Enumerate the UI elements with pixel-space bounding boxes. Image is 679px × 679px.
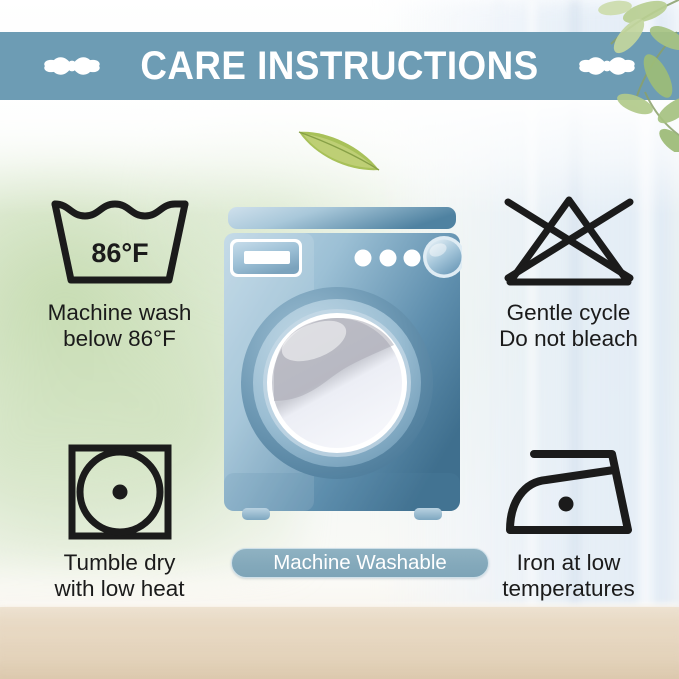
floating-leaf-icon (293, 118, 385, 180)
care-caption: Machine wash below 86°F (12, 300, 227, 352)
iron-icon (494, 442, 644, 542)
machine-lid (228, 207, 456, 229)
care-caption: Iron at low temperatures (466, 550, 671, 602)
care-symbol-tumble-dry: Tumble dry with low heat (12, 442, 227, 602)
care-symbol-iron: Iron at low temperatures (466, 442, 671, 602)
badge-label: Machine Washable (273, 553, 447, 574)
fleur-de-lis-icon (43, 44, 101, 88)
machine-door[interactable] (241, 287, 433, 479)
control-button[interactable] (355, 250, 372, 267)
care-caption: Gentle cycle Do not bleach (466, 300, 671, 352)
care-symbol-do-not-bleach: Gentle cycle Do not bleach (466, 192, 671, 352)
drawer-handle (244, 251, 290, 264)
detergent-drawer (230, 239, 302, 277)
control-button[interactable] (380, 250, 397, 267)
care-instructions-infographic: CARE INSTRUCTIONS (0, 0, 679, 679)
crossed-triangle-icon (494, 192, 644, 292)
control-buttons (355, 250, 421, 267)
washing-machine-illustration (222, 205, 462, 530)
table-wood-grain (0, 607, 679, 679)
tumble-dry-icon (60, 442, 180, 542)
control-button[interactable] (404, 250, 421, 267)
heat-level-dot (558, 497, 573, 512)
plant-branch-decoration (525, 0, 679, 152)
heat-level-dot (112, 485, 127, 500)
machine-washable-badge: Machine Washable (231, 548, 489, 578)
wash-tub-icon: 86°F (45, 192, 195, 292)
wash-temperature-label: 86°F (91, 238, 148, 268)
care-symbol-machine-wash: 86°F Machine wash below 86°F (12, 192, 227, 352)
banner-title: CARE INSTRUCTIONS (140, 46, 538, 86)
care-caption: Tumble dry with low heat (12, 550, 227, 602)
